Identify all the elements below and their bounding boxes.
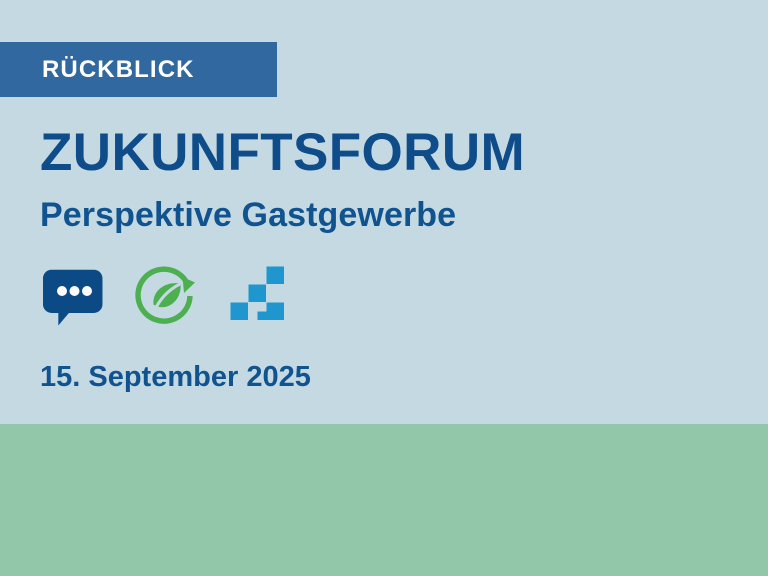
rueckblick-badge: RÜCKBLICK — [0, 42, 277, 97]
page-subtitle: Perspektive Gastgewerbe — [40, 198, 456, 232]
digital-blocks-icon — [226, 262, 292, 328]
event-date: 15. September 2025 — [40, 363, 311, 392]
speech-bubble-icon — [42, 262, 108, 328]
theme-icon-row — [42, 262, 292, 328]
poster-canvas: RÜCKBLICK ZUKUNFTSFORUM Perspektive Gast… — [0, 0, 768, 576]
page-title: ZUKUNFTSFORUM — [40, 126, 525, 179]
eco-leaf-cycle-icon — [134, 262, 200, 328]
badge-label: RÜCKBLICK — [42, 58, 195, 82]
bottom-green-band — [0, 424, 768, 576]
